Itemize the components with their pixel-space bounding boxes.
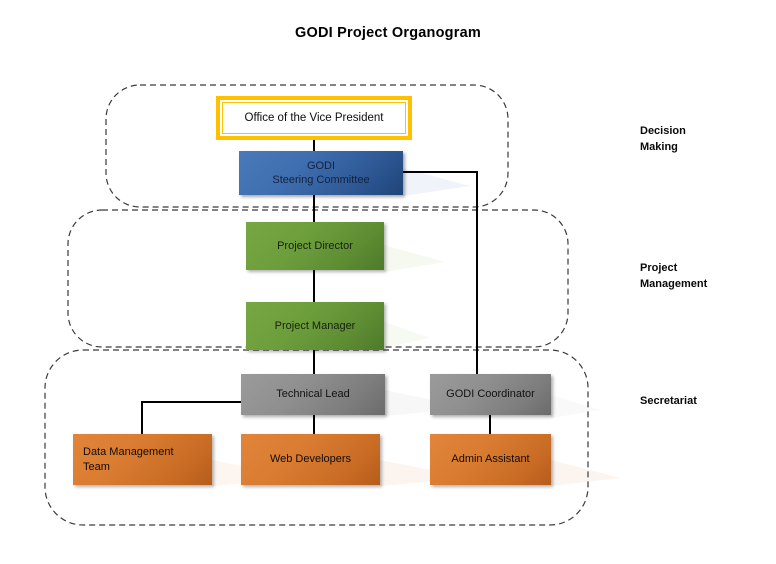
node-project-manager[interactable]: Project Manager xyxy=(246,302,384,350)
tier-label-line1: Secretariat xyxy=(640,394,760,410)
node-label: Project Manager xyxy=(246,319,384,333)
tier-label-decision-making: Decision Making xyxy=(640,124,760,156)
node-office-of-vice-president[interactable]: Office of the Vice President xyxy=(216,96,412,140)
node-label: Technical Lead xyxy=(241,387,385,401)
node-label-line1: GODI xyxy=(239,159,403,173)
tier-label-secretariat: Secretariat xyxy=(640,394,760,410)
node-label: Office of the Vice President xyxy=(220,111,408,126)
node-label: Admin Assistant xyxy=(430,452,551,466)
tier-label-project-management: Project Management xyxy=(640,261,760,293)
node-label-line1: Data Management xyxy=(83,445,212,459)
node-web-developers[interactable]: Web Developers xyxy=(241,434,380,485)
tier-label-line2: Management xyxy=(640,277,760,293)
node-label-line2: Team xyxy=(83,460,212,474)
node-admin-assistant[interactable]: Admin Assistant xyxy=(430,434,551,485)
node-godi-steering-committee[interactable]: GODI Steering Committee xyxy=(239,151,403,195)
edge-steering-coordinator xyxy=(403,172,477,374)
node-data-management-team[interactable]: Data Management Team xyxy=(73,434,212,485)
tier-label-line2: Making xyxy=(640,140,760,156)
tier-label-line1: Decision xyxy=(640,124,760,140)
node-project-director[interactable]: Project Director xyxy=(246,222,384,270)
node-label: Web Developers xyxy=(241,452,380,466)
diagram-canvas: GODI Project Organogram xyxy=(0,0,776,564)
tier-label-line1: Project xyxy=(640,261,760,277)
node-godi-coordinator[interactable]: GODI Coordinator xyxy=(430,374,551,415)
node-label: GODI Coordinator xyxy=(430,387,551,401)
node-technical-lead[interactable]: Technical Lead xyxy=(241,374,385,415)
node-label-line2: Steering Committee xyxy=(239,173,403,187)
page-title: GODI Project Organogram xyxy=(0,25,776,41)
node-label: Data Management Team xyxy=(73,445,212,473)
node-label: GODI Steering Committee xyxy=(239,159,403,187)
node-label: Project Director xyxy=(246,239,384,253)
edge-technical-lead-dmt xyxy=(142,402,241,434)
